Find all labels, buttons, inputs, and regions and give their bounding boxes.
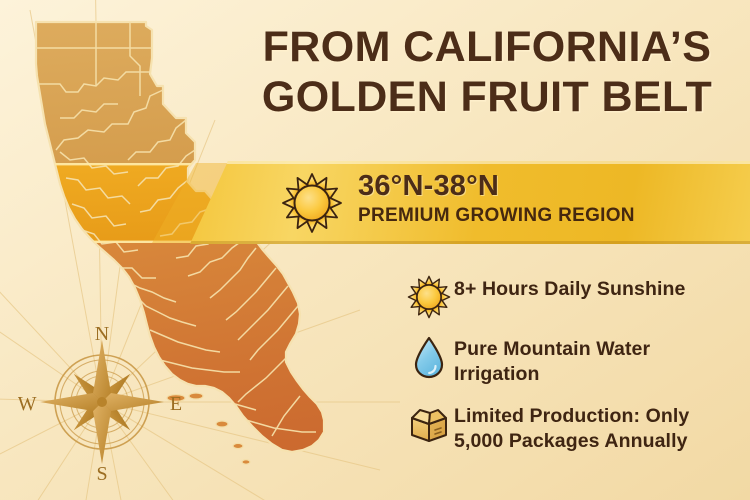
sun-icon <box>281 172 343 234</box>
banner-subtitle: PREMIUM GROWING REGION <box>358 203 635 229</box>
feature-line-1: Pure Mountain Water <box>454 338 650 360</box>
compass-rose: N S W E <box>18 318 186 486</box>
compass-label-west: W <box>18 393 37 415</box>
feature-text-water: Pure Mountain Water Irrigation <box>454 334 744 387</box>
headline-line-1: FROM CALIFORNIA’S <box>232 22 742 72</box>
headline-line-2: GOLDEN FRUIT BELT <box>232 72 742 122</box>
water-drop-icon <box>404 334 454 379</box>
feature-text-sunshine: 8+ Hours Daily Sunshine <box>454 274 744 302</box>
feature-line-1: 8+ Hours Daily Sunshine <box>454 278 686 300</box>
feature-text-production: Limited Production: Only 5,000 Packages … <box>454 401 744 454</box>
feature-list: 8+ Hours Daily Sunshine <box>404 274 744 468</box>
feature-line-1: Limited Production: Only <box>454 405 689 427</box>
compass-label-north: N <box>95 323 109 345</box>
infographic-poster: N S W E FROM CALIFORNIA’S GOLDEN FRUIT B… <box>0 0 750 500</box>
compass-label-south: S <box>96 463 107 485</box>
banner-bottom-shadow <box>190 241 750 244</box>
page-title: FROM CALIFORNIA’S GOLDEN FRUIT BELT <box>232 22 742 122</box>
feature-line-2: 5,000 Packages Annually <box>454 429 744 454</box>
feature-item-water: Pure Mountain Water Irrigation <box>404 334 744 387</box>
feature-line-2: Irrigation <box>454 362 744 387</box>
feature-item-production: Limited Production: Only 5,000 Packages … <box>404 401 744 454</box>
compass-label-east: E <box>170 393 182 415</box>
banner-text-block: 36°N-38°N PREMIUM GROWING REGION <box>358 169 635 229</box>
sun-icon <box>404 274 454 319</box>
feature-item-sunshine: 8+ Hours Daily Sunshine <box>404 274 744 320</box>
latitude-value: 36°N-38°N <box>358 169 635 203</box>
box-icon <box>404 401 454 444</box>
banner-top-highlight <box>190 161 750 164</box>
